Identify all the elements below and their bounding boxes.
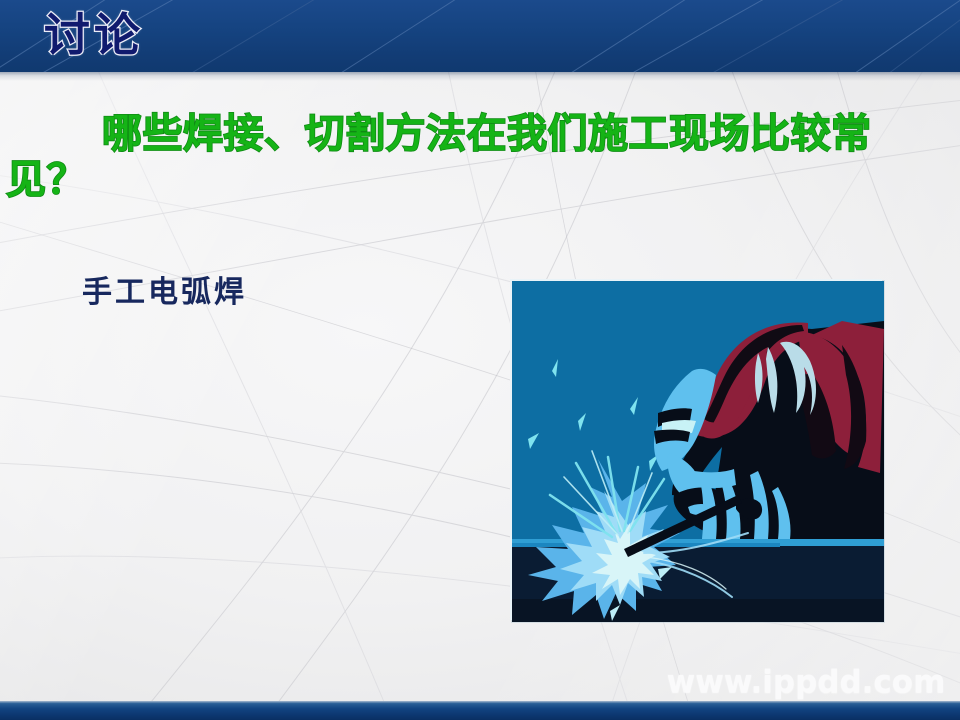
slide-header-banner: 讨论	[0, 0, 960, 72]
slide-footer-bar	[0, 701, 960, 720]
welding-illustration	[512, 281, 884, 622]
discussion-question-text: 哪些焊接、切割方法在我们施工现场比较常见？	[6, 112, 952, 203]
banner-line-pattern	[0, 0, 960, 72]
slide-title: 讨论	[44, 4, 144, 66]
presentation-slide: 讨论 哪些焊接、切割方法在我们施工现场比较常见？ 手工电弧焊	[0, 0, 960, 720]
site-watermark: www.ippdd.com	[660, 664, 952, 700]
answer-item-manual-arc-welding: 手工电弧焊	[82, 267, 247, 311]
